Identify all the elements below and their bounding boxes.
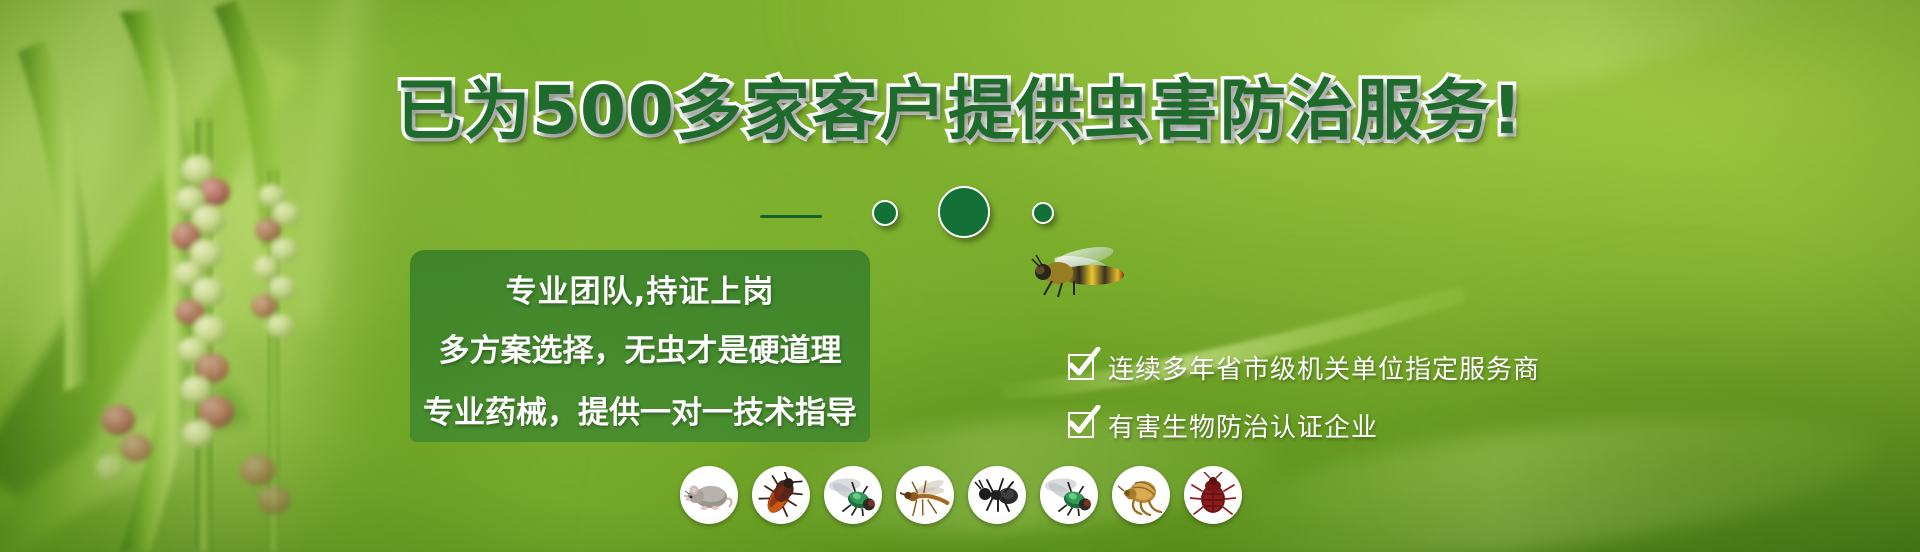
promo-banner: 已为500多家客户提供虫害防治服务! 专业团队,持证上岗 多方案选择，无虫才是硬… — [0, 0, 1920, 552]
vignette-overlay — [0, 0, 1920, 552]
